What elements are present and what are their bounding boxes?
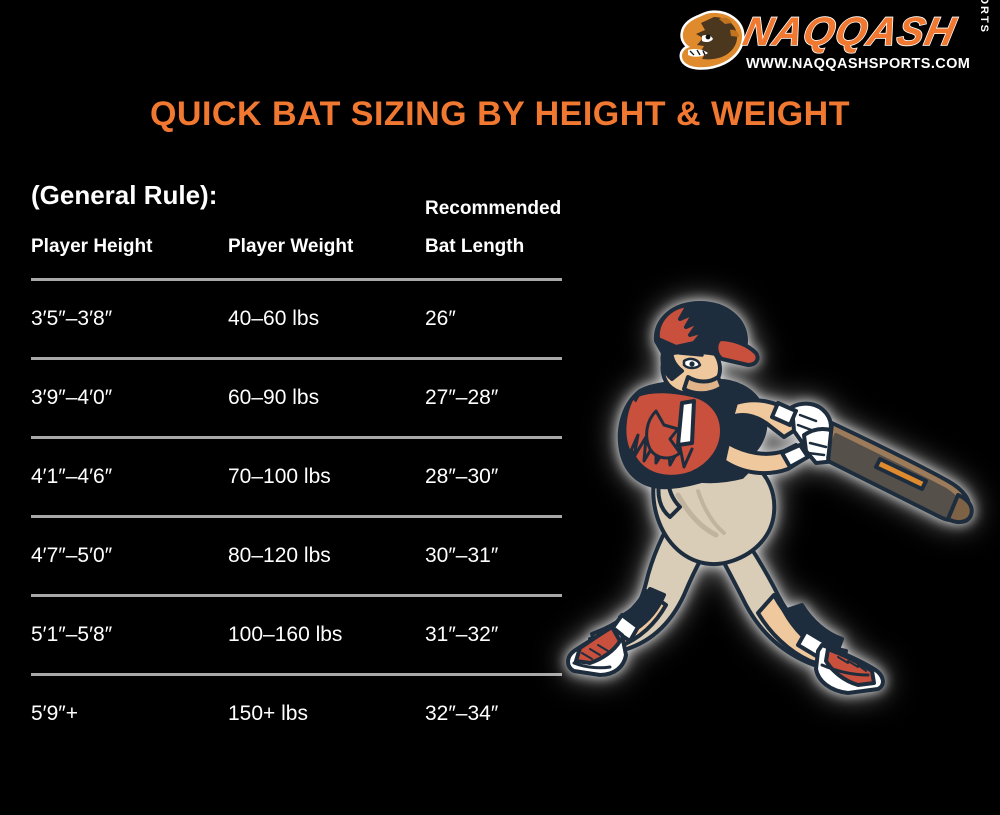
cell-player-height: 3′5″–3′8″ — [31, 307, 112, 331]
cell-player-weight: 80–120 lbs — [228, 544, 331, 568]
cell-player-height: 3′9″–4′0″ — [31, 386, 112, 410]
cell-bat-length: 26″ — [425, 307, 456, 331]
baseball-batter-illustration — [560, 295, 1000, 745]
brand-url[interactable]: WWW.NAQQASHSPORTS.COM — [746, 56, 970, 72]
cell-player-weight: 150+ lbs — [228, 702, 308, 726]
cell-player-height: 5′9″+ — [31, 702, 78, 726]
cell-bat-length: 31″–32″ — [425, 623, 498, 647]
cell-bat-length: 27″–28″ — [425, 386, 498, 410]
cell-player-weight: 40–60 lbs — [228, 307, 319, 331]
table-header: (General Rule): Player Height Player Wei… — [31, 180, 566, 278]
brand-logo: NAQQASH WWW.NAQQASHSPORTS.COM SPORTS — [672, 4, 992, 86]
cell-bat-length: 28″–30″ — [425, 465, 498, 489]
page-title: QUICK BAT SIZING BY HEIGHT & WEIGHT — [0, 95, 1000, 134]
brand-wordmark: NAQQASH — [739, 10, 960, 54]
cell-player-weight: 70–100 lbs — [228, 465, 331, 489]
table-row: 4′1″–4′6″ 70–100 lbs 28″–30″ — [31, 439, 566, 515]
lion-head-icon — [678, 10, 748, 72]
cell-bat-length: 30″–31″ — [425, 544, 498, 568]
column-header-recommended-bat-length: Recommended Bat Length — [425, 190, 575, 266]
table-row: 5′9″+ 150+ lbs 32″–34″ — [31, 676, 566, 752]
cell-bat-length: 32″–34″ — [425, 702, 498, 726]
cell-player-height: 4′1″–4′6″ — [31, 465, 112, 489]
cell-player-weight: 60–90 lbs — [228, 386, 319, 410]
cell-player-height: 4′7″–5′0″ — [31, 544, 112, 568]
table-row: 3′5″–3′8″ 40–60 lbs 26″ — [31, 281, 566, 357]
cell-player-height: 5′1″–5′8″ — [31, 623, 112, 647]
column-header-player-weight: Player Weight — [228, 228, 353, 266]
table-row: 3′9″–4′0″ 60–90 lbs 27″–28″ — [31, 360, 566, 436]
general-rule-label: (General Rule): — [31, 180, 217, 211]
table-row: 4′7″–5′0″ 80–120 lbs 30″–31″ — [31, 518, 566, 594]
infographic-root: NAQQASH WWW.NAQQASHSPORTS.COM SPORTS QUI… — [0, 0, 1000, 815]
cell-player-weight: 100–160 lbs — [228, 623, 342, 647]
column-header-player-height: Player Height — [31, 228, 152, 266]
brand-tagline: SPORTS — [978, 0, 990, 34]
table-row: 5′1″–5′8″ 100–160 lbs 31″–32″ — [31, 597, 566, 673]
bat-sizing-table: (General Rule): Player Height Player Wei… — [31, 180, 566, 752]
